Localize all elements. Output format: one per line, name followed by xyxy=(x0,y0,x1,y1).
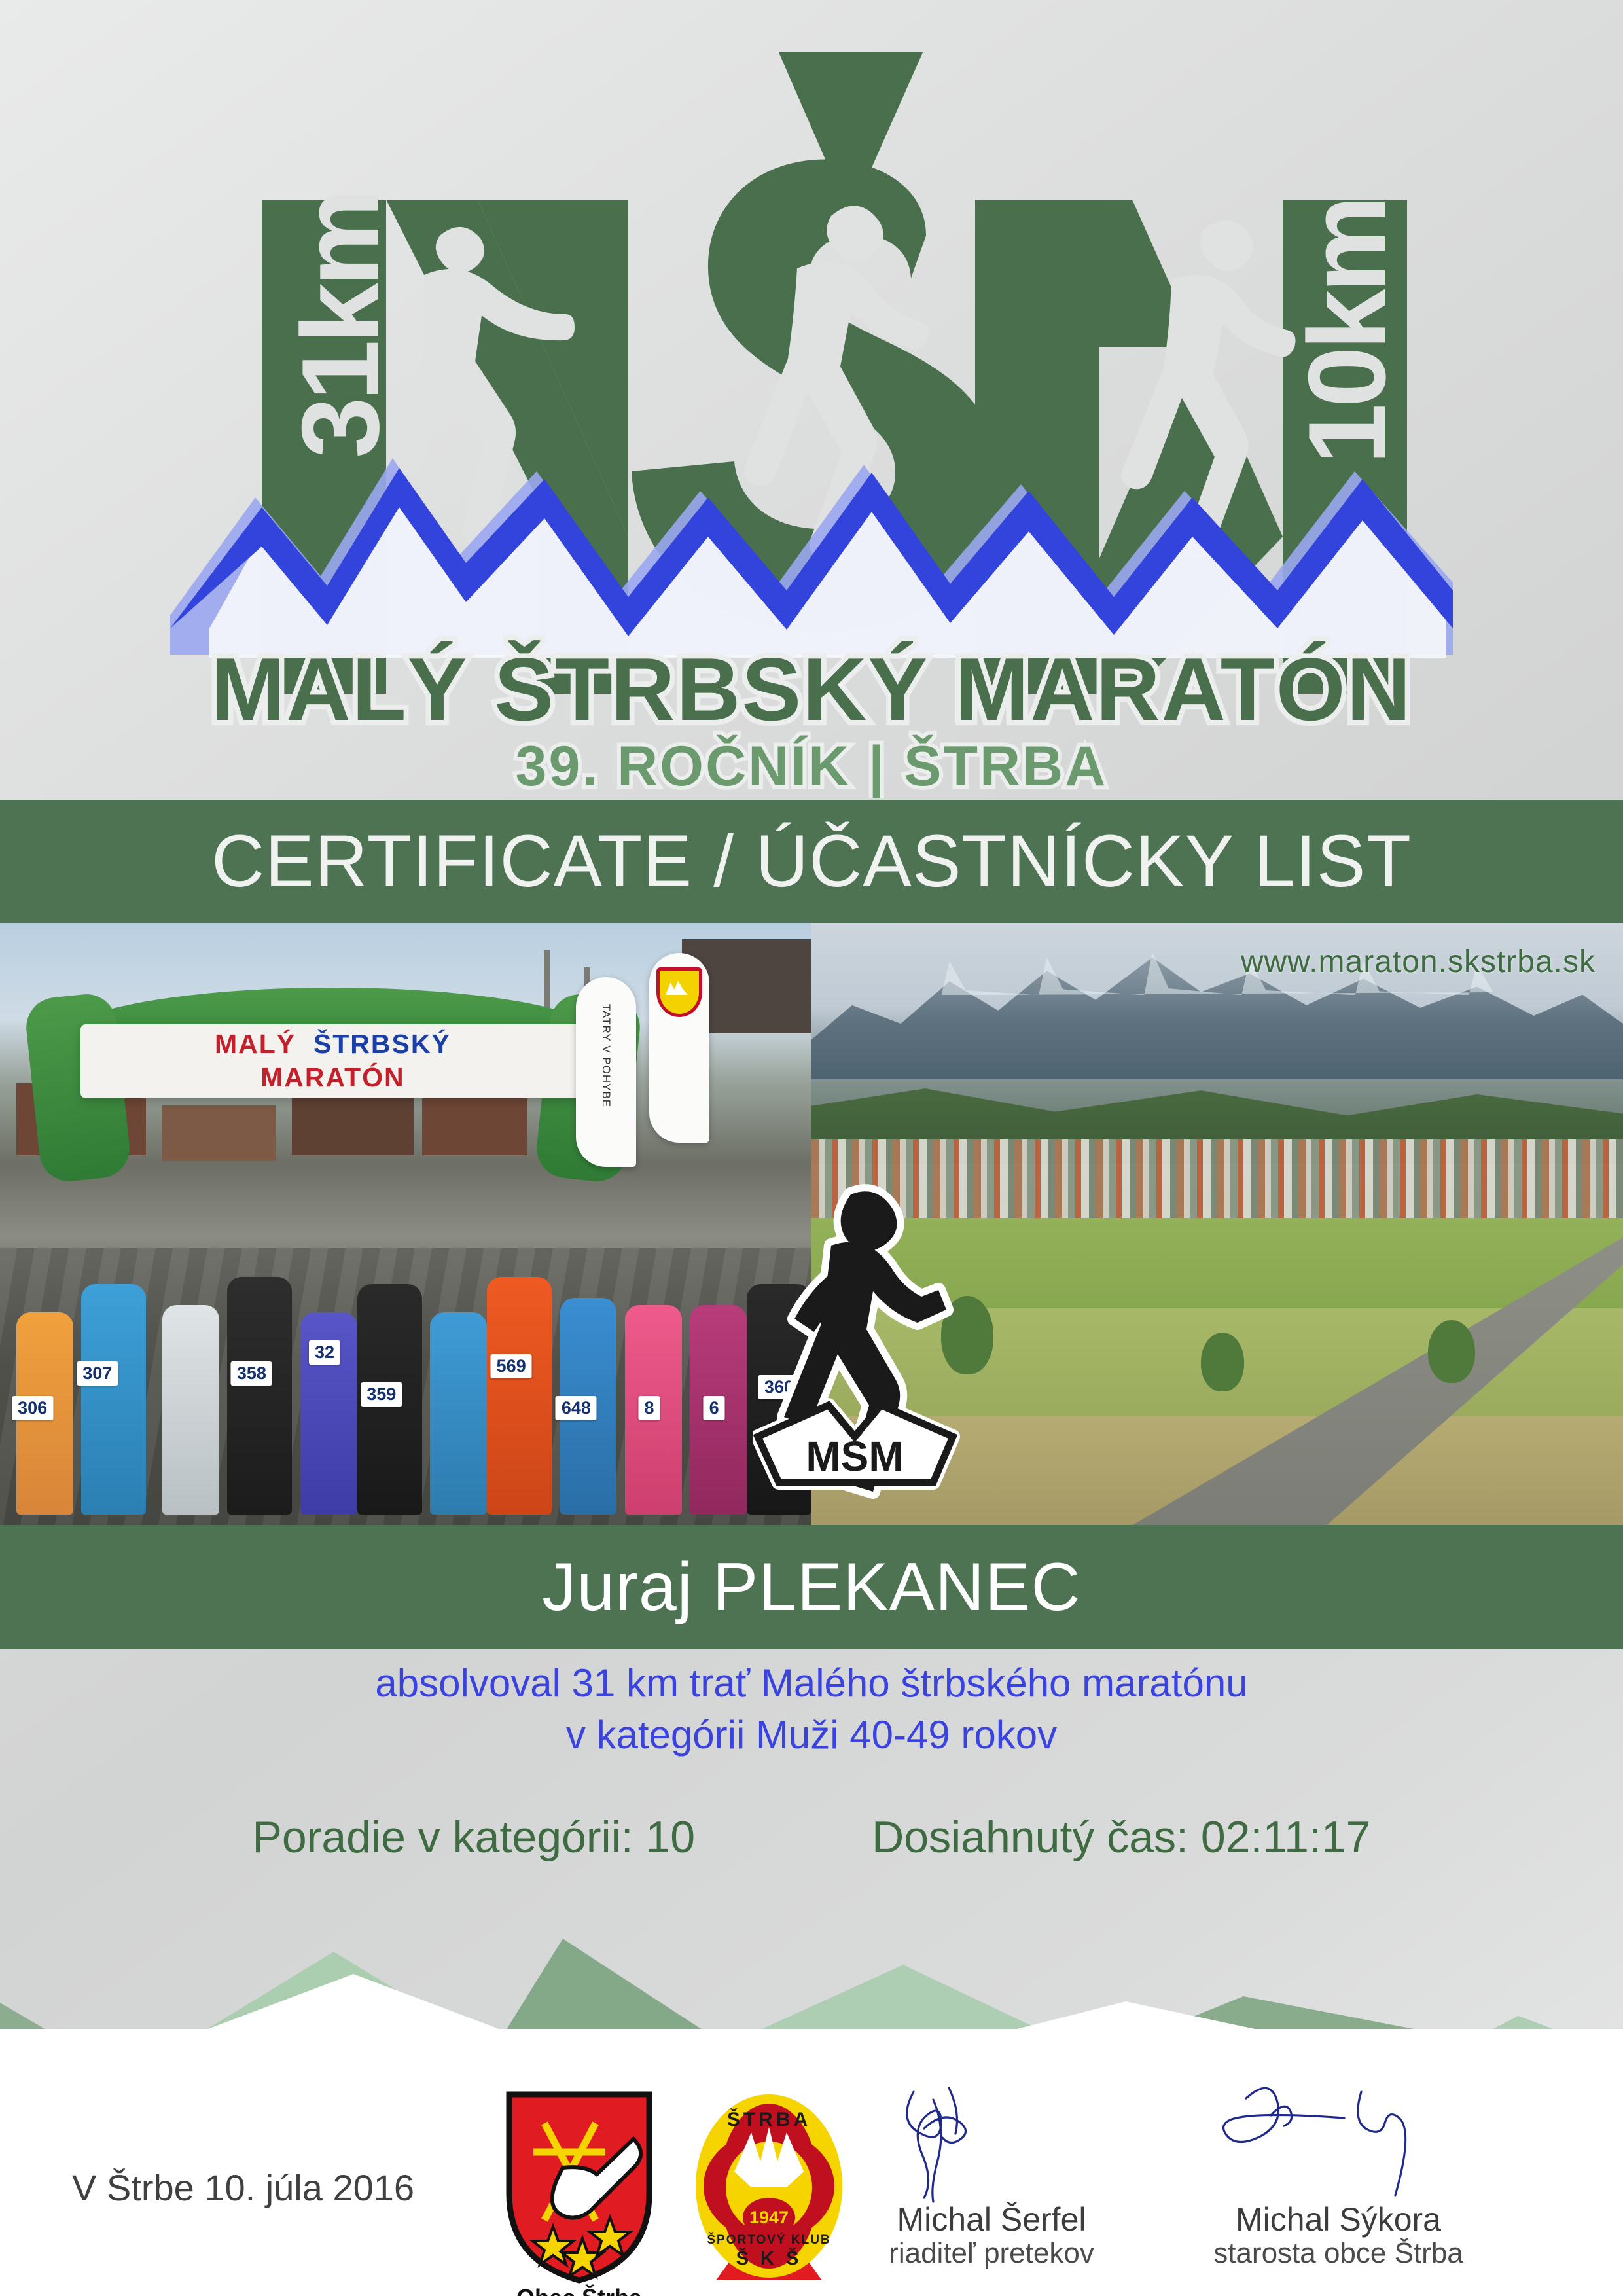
bib-number: 306 xyxy=(12,1396,53,1420)
finish-time: Dosiahnutý čas: 02:11:17 xyxy=(872,1812,1370,1863)
sports-club-logo-svg: ŠTRBA 1947 Š K Š ŠPORTOVÝ KLUB xyxy=(687,2089,851,2286)
runner-pack: 307 358 32 359 569 648 8 6 360 306 xyxy=(0,1175,811,1525)
bib-number: 569 xyxy=(491,1354,532,1378)
sponsor-flag-sks xyxy=(649,953,709,1143)
msm-runner-sticker-svg: MŠM xyxy=(753,1175,969,1509)
signature-block-mayor: Michal Sýkora starosta obce Štrba xyxy=(1198,2081,1479,2269)
start-line-photo: MALÝ ŠTRBSKÝ MARATÓN ŠTART - CIEĽ TATRY … xyxy=(0,923,811,1525)
club-subtitle: ŠPORTOVÝ KLUB xyxy=(707,2233,830,2247)
bib-number: 359 xyxy=(361,1382,402,1407)
signatory-name: Michal Šerfel xyxy=(851,2202,1132,2237)
sports-club-logo-icon: ŠTRBA 1947 Š K Š ŠPORTOVÝ KLUB xyxy=(687,2089,851,2286)
club-founded-year: 1947 xyxy=(749,2208,789,2227)
svg-text:39. ROČNÍK | ŠTRBA: 39. ROČNÍK | ŠTRBA xyxy=(516,735,1108,798)
signatory-role: riaditeľ pretekov xyxy=(851,2237,1132,2269)
participant-name: Juraj PLEKANEC xyxy=(542,1553,1080,1621)
club-name-top: ŠTRBA xyxy=(727,2108,811,2130)
tree xyxy=(1201,1333,1244,1391)
msm-logo: 31km 10km MALÝ ŠTRBSKÝ MARATÓN 39. ROČNÍ… xyxy=(170,39,1453,798)
certificate-title-bar: CERTIFICATE / ÚČASTNÍCKY LIST xyxy=(0,800,1623,923)
arch-banner: MALÝ ŠTRBSKÝ MARATÓN xyxy=(80,1024,585,1098)
description-line-2: v kategórii Muži 40-49 rokov xyxy=(0,1709,1623,1761)
bib-number: 32 xyxy=(309,1340,340,1365)
municipality-crest-icon xyxy=(497,2089,661,2286)
website-url[interactable]: www.maraton.skstrba.sk xyxy=(1241,944,1596,980)
bib-number: 648 xyxy=(556,1396,597,1420)
arch-text-maraton: MARATÓN xyxy=(260,1062,404,1092)
svg-text:31km: 31km xyxy=(279,192,402,458)
signature-serfel-icon xyxy=(851,2081,1132,2206)
result-row: Poradie v kategórii: 10 Dosiahnutý čas: … xyxy=(0,1812,1623,1863)
arch-text-strbsky: ŠTRBSKÝ xyxy=(313,1029,451,1059)
svg-text:MALÝ ŠTRBSKÝ MARATÓN: MALÝ ŠTRBSKÝ MARATÓN xyxy=(211,639,1412,739)
event-logo-zone: 31km 10km MALÝ ŠTRBSKÝ MARATÓN 39. ROČNÍ… xyxy=(0,0,1623,795)
arch-text-maly: MALÝ xyxy=(215,1029,296,1059)
bib-number: 8 xyxy=(638,1396,660,1420)
signature-sykora-icon xyxy=(1198,2081,1479,2206)
certificate-page: 31km 10km MALÝ ŠTRBSKÝ MARATÓN 39. ROČNÍ… xyxy=(0,0,1623,2296)
bib-number: 6 xyxy=(704,1396,725,1420)
signature-block-director: Michal Šerfel riaditeľ pretekov xyxy=(851,2081,1132,2269)
signatory-role: starosta obce Štrba xyxy=(1198,2237,1479,2269)
msm-logo-svg: 31km 10km MALÝ ŠTRBSKÝ MARATÓN 39. ROČNÍ… xyxy=(170,39,1453,798)
municipality-caption: Obec Štrba xyxy=(497,2284,661,2296)
svg-text:10km: 10km xyxy=(1285,199,1408,465)
certificate-title: CERTIFICATE / ÚČASTNÍCKY LIST xyxy=(211,825,1412,898)
bib-number: 307 xyxy=(77,1361,118,1386)
start-arch: MALÝ ŠTRBSKÝ MARATÓN xyxy=(33,971,633,1176)
flag-text-tatry: TATRY V POHYBE xyxy=(599,1004,613,1107)
club-initials: Š K Š xyxy=(736,2247,802,2269)
achievement-description: absolvoval 31 km trať Malého štrbského m… xyxy=(0,1657,1623,1761)
sks-badge-icon xyxy=(656,967,702,1017)
certificate-footer: V Štrbe 10. júla 2016 Obec Štrba xyxy=(0,2055,1623,2296)
msm-runner-sticker: MŠM xyxy=(753,1175,969,1509)
place-and-date: V Štrbe 10. júla 2016 xyxy=(72,2166,414,2209)
bib-number: 358 xyxy=(231,1361,272,1386)
description-line-1: absolvoval 31 km trať Malého štrbského m… xyxy=(0,1657,1623,1709)
msm-sticker-label: MŠM xyxy=(806,1432,903,1480)
participant-name-bar: Juraj PLEKANEC xyxy=(0,1525,1623,1649)
signatory-name: Michal Sýkora xyxy=(1198,2202,1479,2237)
sponsor-flag-tatry: TATRY V POHYBE xyxy=(576,977,636,1167)
category-rank: Poradie v kategórii: 10 xyxy=(253,1812,696,1863)
municipality-crest-svg xyxy=(497,2089,661,2286)
tree xyxy=(1428,1320,1475,1383)
